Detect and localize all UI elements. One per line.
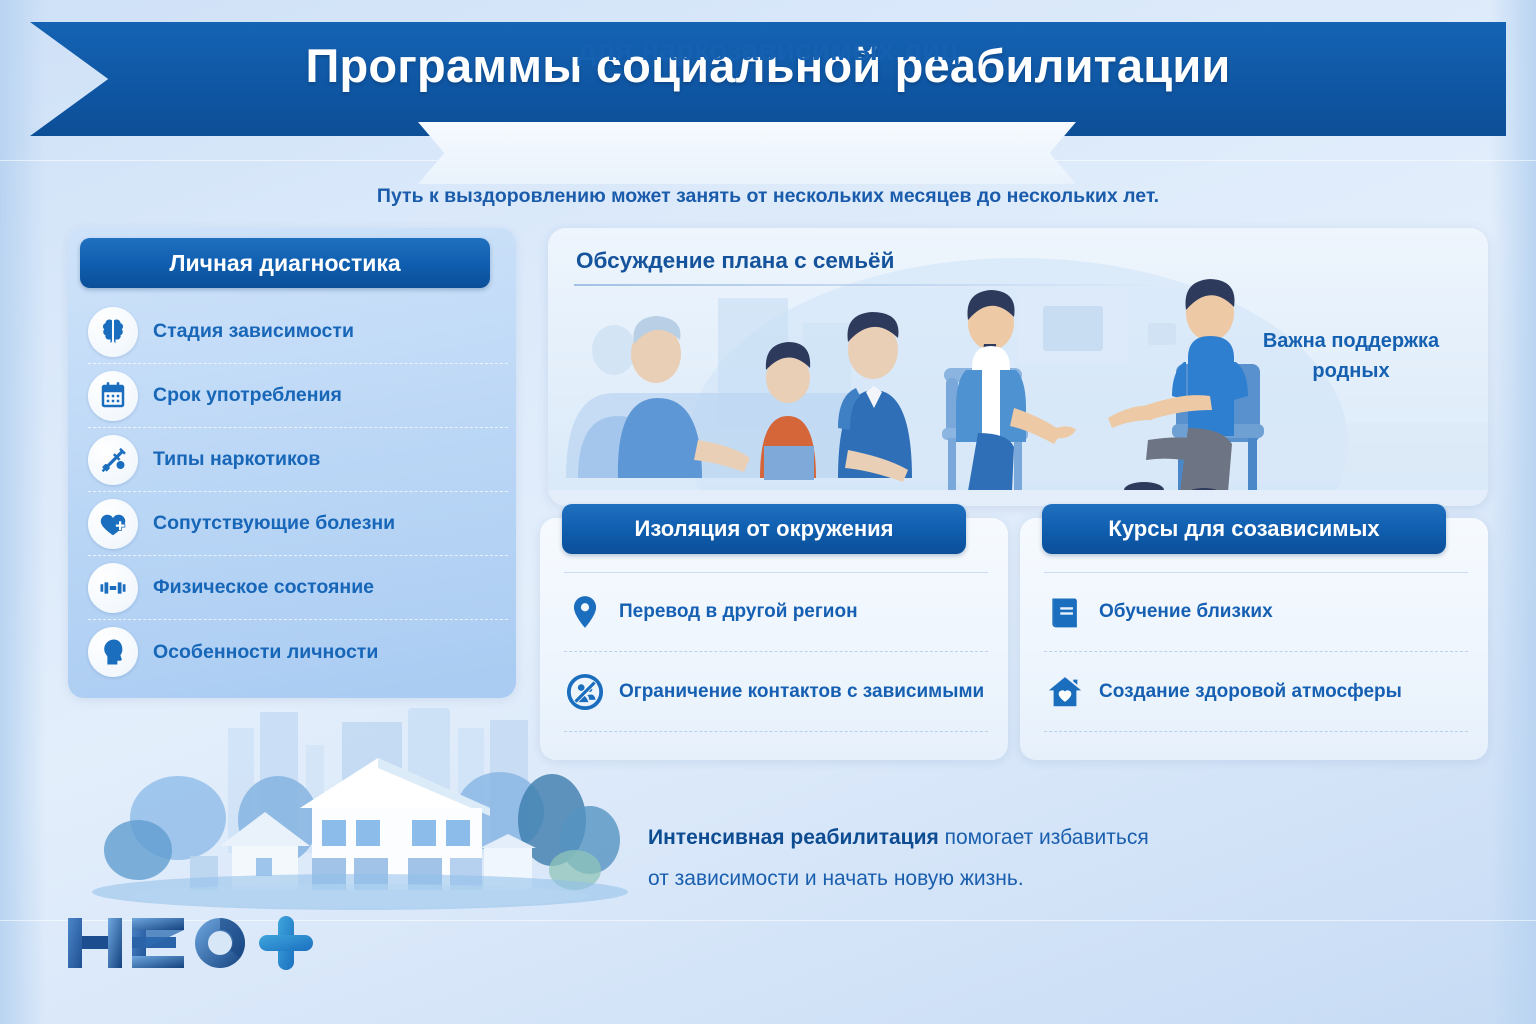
family-discussion-panel: Обсуждение плана с семьёй Важна поддержк… [548,228,1488,506]
page-subtitle: для наркозависимых лиц [0,34,1536,68]
brain-icon [88,307,138,357]
footer-rest: помогает избавиться [939,826,1149,849]
illustration-title-rule [574,284,1164,286]
list-item[interactable]: Обучение близких [1044,572,1468,652]
list-item-label: Сопутствующие болезни [153,512,395,535]
intro-text: Путь к выздоровлению может занять от нес… [0,185,1536,208]
left-edge-shade [0,0,46,1024]
right-edge-shade [1490,0,1536,1024]
illustration-title: Обсуждение плана с семьёй [576,248,894,274]
personal-diagnostics-panel: Личная диагностика Стадия зависимости Ср… [68,228,516,698]
list-item[interactable]: Стадия зависимости [88,300,508,364]
head-profile-icon [88,627,138,677]
infographic-canvas: Программы социальной реабилитации для на… [0,0,1536,1024]
dumbbell-icon [88,563,138,613]
codependent-courses-card: Курсы для созависимых Обучение близких С… [1020,518,1488,760]
location-pin-icon [564,591,606,633]
list-item-label: Стадия зависимости [153,320,354,343]
list-item[interactable]: Перевод в другой регион [564,572,988,652]
list-item-label: Ограничение контактов с зависимыми [619,681,984,703]
subtitle-ribbon-shape [418,122,1076,184]
brand-logo[interactable]: НЕО+ [64,912,314,974]
list-item-label: Срок употребления [153,384,342,407]
syringe-icon [88,435,138,485]
logo-text: НЕО+ [64,912,108,916]
list-item[interactable]: Срок употребления [88,364,508,428]
list-item[interactable]: Создание здоровой атмосферы [1044,652,1468,732]
diagnostics-list: Стадия зависимости Срок употребления Тип… [88,300,508,684]
list-item-label: Типы наркотиков [153,448,320,471]
panel-heading: Личная диагностика [80,238,490,288]
list-item-label: Особенности личности [153,641,378,664]
list-item-label: Создание здоровой атмосферы [1099,681,1402,703]
footer-lead: Интенсивная реабилитация [648,826,939,849]
list-item[interactable]: Особенности личности [88,620,508,684]
house-heart-icon [1044,671,1086,713]
header-ribbon: Программы социальной реабилитации для на… [0,22,1536,142]
list-item[interactable]: Физическое состояние [88,556,508,620]
footer-statement: Интенсивная реабилитация помогает избави… [648,818,1408,900]
footer-line2: от зависимости и начать новую жизнь. [648,867,1024,890]
calendar-icon [88,371,138,421]
list-item-label: Обучение близких [1099,601,1273,623]
list-item-label: Физическое состояние [153,576,374,599]
courses-rows: Обучение близких Создание здоровой атмос… [1044,572,1468,732]
card-heading: Изоляция от окружения [562,504,966,554]
list-item[interactable]: Сопутствующие болезни [88,492,508,556]
list-item-label: Перевод в другой регион [619,601,858,623]
rehab-house-illustration [60,700,660,915]
heart-cross-icon [88,499,138,549]
support-note: Важна поддержка родных [1236,326,1466,386]
card-heading: Курсы для созависимых [1042,504,1446,554]
book-icon [1044,591,1086,633]
list-item[interactable]: Типы наркотиков [88,428,508,492]
